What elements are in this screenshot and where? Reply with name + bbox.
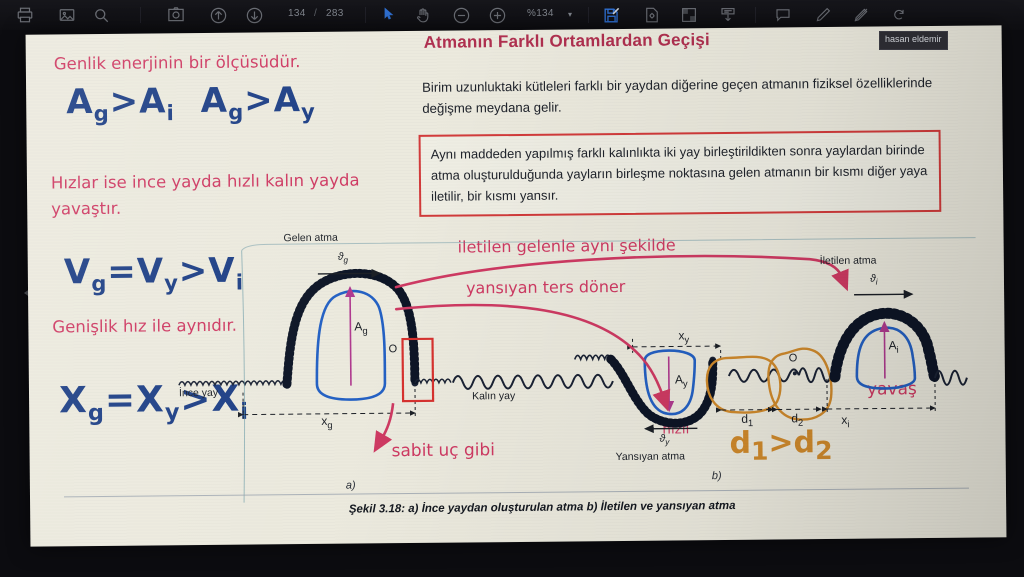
rotate-icon[interactable] [888,4,910,26]
pan-hand-icon[interactable] [412,4,434,26]
label-gelen-atma: Gelen atma [283,232,337,245]
image-icon[interactable] [56,4,78,26]
label-velocity-g: ϑg [338,251,348,265]
page-up-icon[interactable] [207,4,229,26]
page-number-total: 283 [326,8,344,19]
toolbar-separator-4 [755,7,756,23]
spring-thick [453,375,613,390]
print-icon[interactable] [14,4,36,26]
pulse-reflected [611,350,714,424]
save-annotated-icon[interactable] [600,4,622,26]
zoom-out-icon[interactable] [450,4,472,26]
figure-frame-line-top [242,238,976,251]
label-velocity-y: ϑy [659,433,669,447]
comment-speech-bubble-icon[interactable] [772,4,794,26]
label-x-y: xy [678,328,689,344]
marker-stroke-yansiyan [396,303,663,399]
search-icon[interactable] [90,4,112,26]
label-kalin-yay: Kalın yay [472,390,515,402]
label-d1: d1 [741,412,753,429]
toolbar-separator-2 [365,7,366,23]
amplitude-arrow-i [884,322,885,378]
pdf-toolbar: 134 / 283 %134 ▾ [0,0,1024,30]
label-junction-o-right: O [789,352,798,364]
erase-pen-icon[interactable] [850,4,872,26]
label-amplitude-y: Ay [675,372,688,389]
extract-page-icon[interactable] [717,4,739,26]
zoom-dropdown-caret-icon[interactable]: ▾ [568,10,572,19]
figure-drawing [26,25,1007,546]
label-velocity-i: ϑi [870,273,878,287]
spring-thick-b [729,369,799,382]
velocity-arrow-i [854,294,912,295]
zoom-level-value[interactable]: %134 [527,8,554,19]
label-d2: d2 [791,411,803,428]
label-junction-o-left: O [389,343,398,355]
label-x-g: xg [321,414,332,430]
fit-page-icon[interactable] [678,4,700,26]
page-number-separator: / [314,8,317,19]
figure-frame-line [242,251,246,503]
marker-arrow-sabit-uc [381,403,393,439]
amplitude-arrow-y [669,357,670,411]
highlight-pen-icon[interactable] [812,4,834,26]
page-gear-icon[interactable] [641,4,663,26]
velocity-arrow-g [318,273,380,274]
toolbar-separator-3 [588,7,589,23]
spring-b-left [575,355,611,359]
label-amplitude-g: Ag [354,319,367,336]
pdf-page-canvas[interactable]: Atmanın Farklı Ortamlardan Geçişi Birim … [26,25,1007,546]
spring-thin-left [179,381,287,386]
label-amplitude-i: Ai [889,338,899,354]
subfigure-label-b: b) [712,470,722,482]
label-yansiyan-atma: Yansıyan atma [616,450,685,463]
pdf-viewer-window: 134 / 283 %134 ▾ [0,0,1024,577]
page-down-icon[interactable] [243,4,265,26]
junction-point-right [793,371,797,375]
user-tooltip: hasan eldemir [879,31,948,50]
dimension-x-i [827,378,935,413]
amplitude-arrow-g [350,288,351,386]
zoom-in-icon[interactable] [486,4,508,26]
snapshot-camera-icon[interactable] [165,4,187,26]
page-number-current[interactable]: 134 [288,8,306,19]
toolbar-separator [140,7,141,23]
label-ince-yay: İnce yay [179,387,218,399]
label-x-i: xi [841,413,849,429]
subfigure-label-a: a) [346,480,356,492]
marker-stroke-iletilen [396,255,842,287]
select-cursor-icon[interactable] [382,5,396,23]
label-iletilen-atma: İletilen atma [820,255,877,268]
